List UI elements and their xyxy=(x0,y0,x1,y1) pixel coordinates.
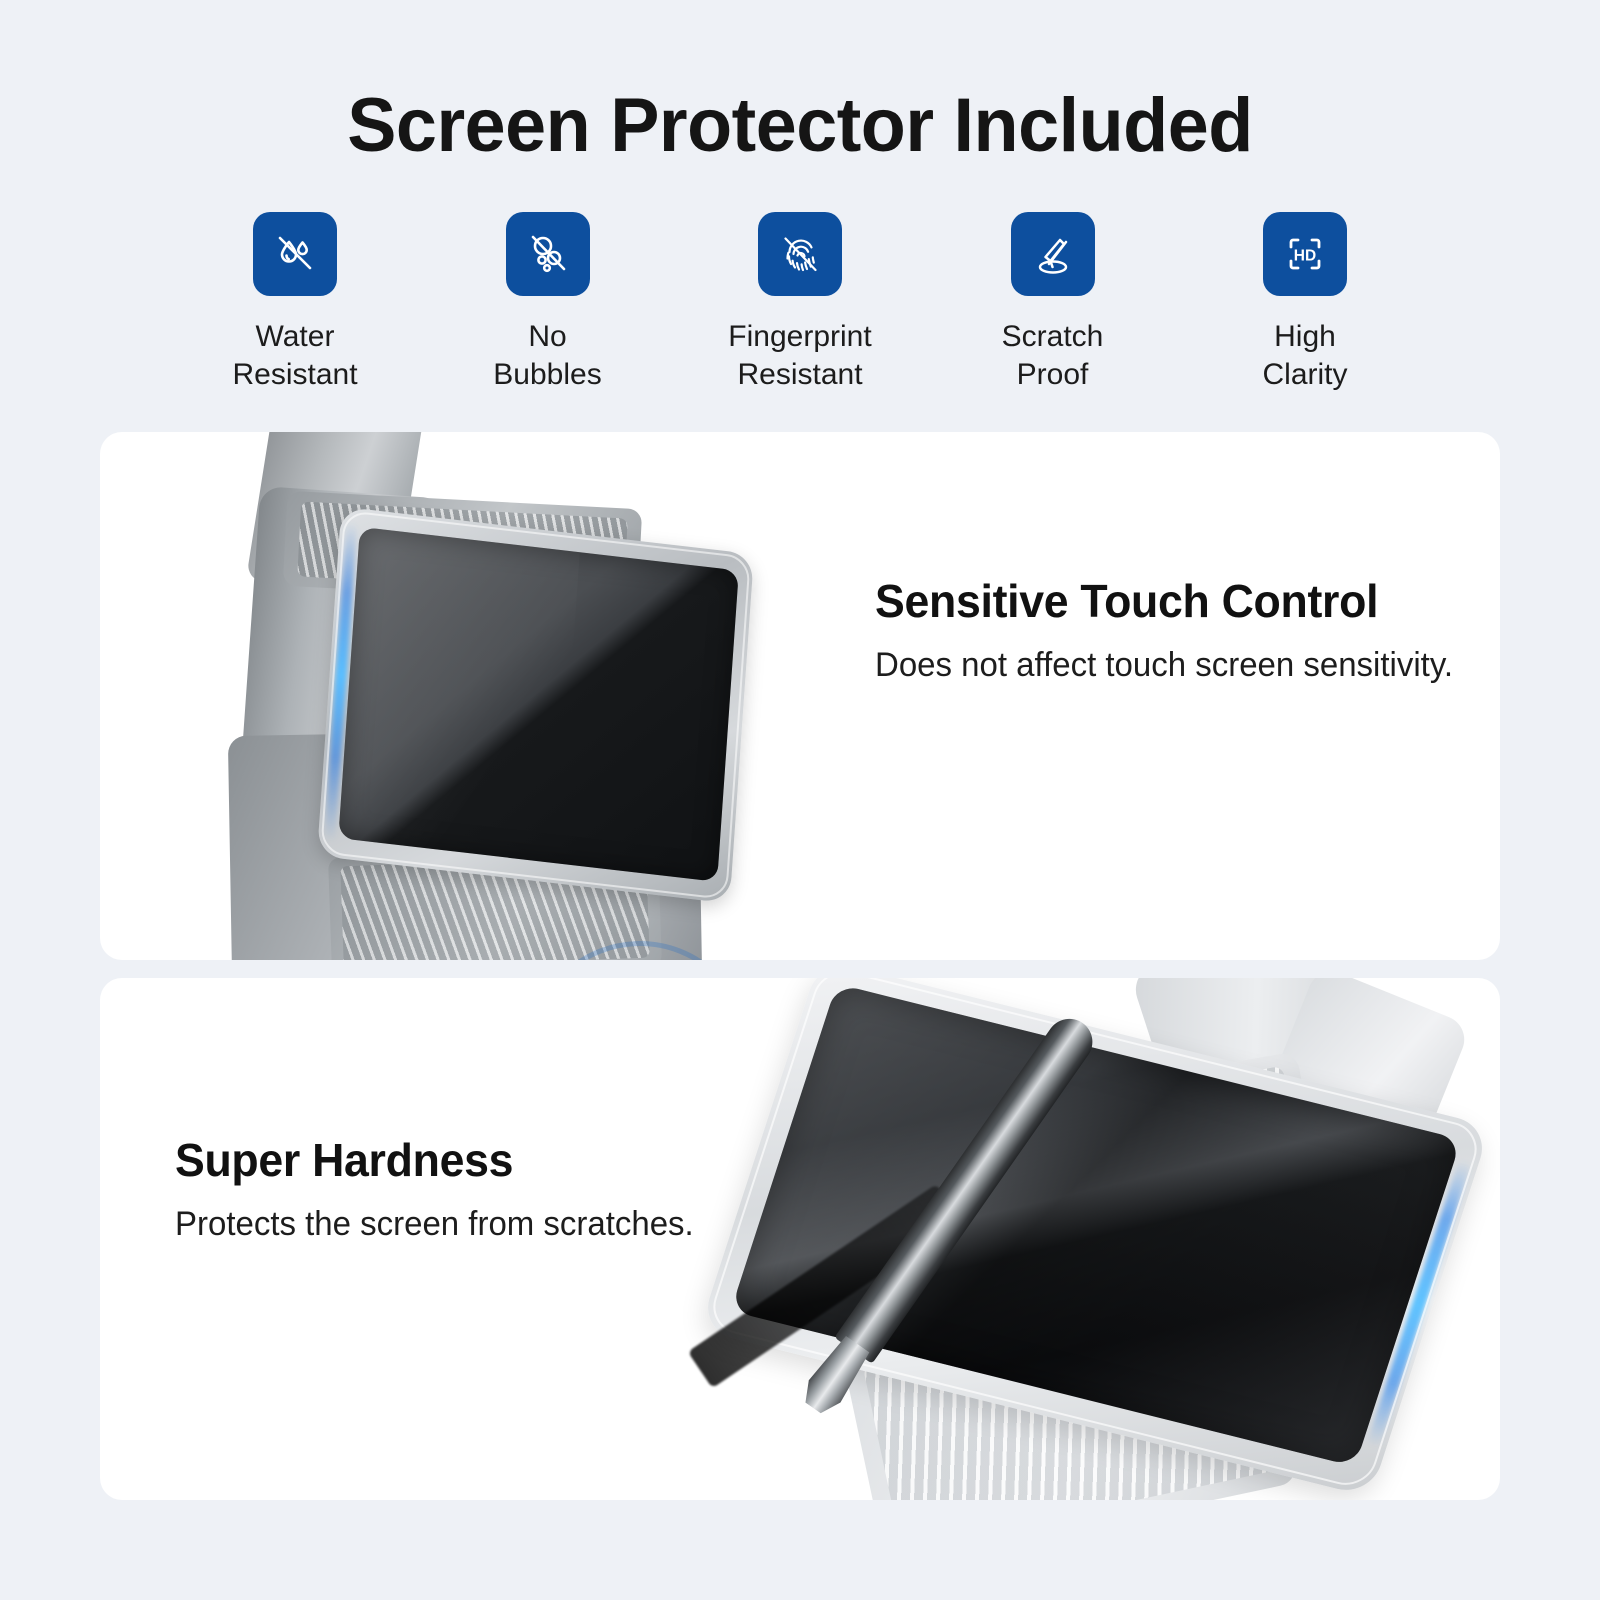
gimbal-touch-illustration xyxy=(100,432,900,960)
blade-scratch-icon xyxy=(1011,212,1095,296)
bubbles-slash-icon xyxy=(506,212,590,296)
screen-glass xyxy=(338,527,739,882)
card-body: Does not affect touch screen sensitivity… xyxy=(875,646,1457,685)
feature-label: No Bubbles xyxy=(493,318,601,394)
page-title: Screen Protector Included xyxy=(24,82,1576,169)
feature-label: Scratch Proof xyxy=(1002,318,1104,394)
fingerprint-slash-icon xyxy=(758,212,842,296)
card-text-block: Super Hardness Protects the screen from … xyxy=(175,1133,735,1244)
hd-frame-icon: HD xyxy=(1263,212,1347,296)
card-super-hardness: Super Hardness Protects the screen from … xyxy=(100,978,1500,1500)
card-sensitive-touch-control: Sensitive Touch Control Does not affect … xyxy=(100,432,1500,960)
feature-label: Fingerprint Resistant xyxy=(728,318,871,394)
card-text-block: Sensitive Touch Control Does not affect … xyxy=(875,574,1475,685)
feature-fingerprint-resistant: Fingerprint Resistant xyxy=(705,212,895,394)
feature-list: Water Resistant No Bubbles xyxy=(200,212,1400,394)
product-infographic-page: Screen Protector Included Water Resistan… xyxy=(0,0,1600,1600)
water-drop-slash-icon xyxy=(253,212,337,296)
card-body: Protects the screen from scratches. xyxy=(175,1205,718,1244)
card-heading: Sensitive Touch Control xyxy=(875,574,1457,628)
screen-assembly xyxy=(317,507,754,904)
feature-high-clarity: HD High Clarity xyxy=(1210,212,1400,394)
feature-label: High Clarity xyxy=(1262,318,1347,394)
svg-text:HD: HD xyxy=(1294,248,1316,265)
feature-label: Water Resistant xyxy=(232,318,357,394)
feature-no-bubbles: No Bubbles xyxy=(453,212,643,394)
feature-water-resistant: Water Resistant xyxy=(200,212,390,394)
feature-scratch-proof: Scratch Proof xyxy=(958,212,1148,394)
card-heading: Super Hardness xyxy=(175,1133,718,1187)
